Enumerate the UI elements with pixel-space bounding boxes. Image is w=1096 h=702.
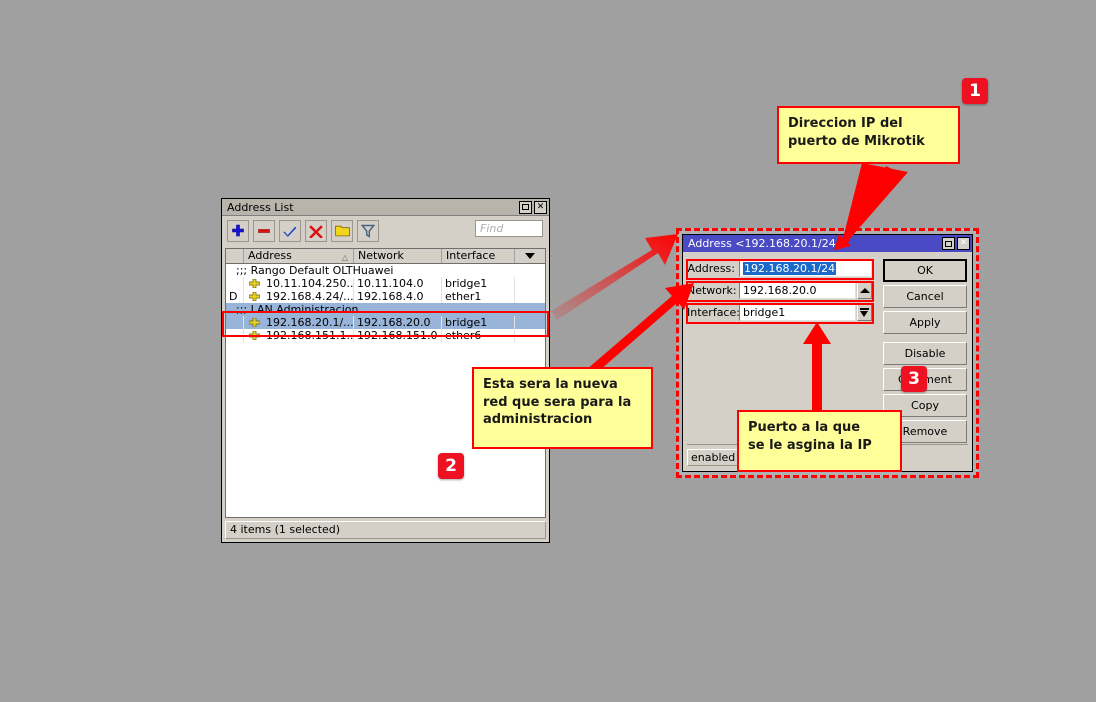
- table-header-row: Address △ Network Interface: [226, 249, 545, 264]
- address-icon: [249, 292, 260, 301]
- callout-nueva-red: Esta sera la nueva red que sera para la …: [472, 367, 653, 449]
- close-icon: ✕: [537, 203, 545, 212]
- row-flag: [226, 316, 244, 329]
- address-list-titlebar[interactable]: Address List ✕: [222, 199, 549, 216]
- table-row[interactable]: ;;; Rango Default OLTHuawei: [226, 264, 545, 277]
- callout-line: administracion: [483, 411, 642, 429]
- address-dialog-titlebar[interactable]: Address <192.168.20.1/24> ✕: [683, 235, 972, 252]
- address-input[interactable]: 192.168.20.1/24: [739, 260, 872, 277]
- ok-button[interactable]: OK: [883, 259, 967, 282]
- square-icon: [522, 204, 529, 210]
- callout-line: Direccion IP del: [788, 115, 949, 133]
- maximize-button[interactable]: [519, 201, 532, 214]
- arrow-list-to-dialog: [551, 234, 678, 320]
- network-collapse-button[interactable]: [857, 282, 872, 299]
- filter-button[interactable]: [357, 220, 379, 242]
- row-interface: ether6: [442, 329, 515, 342]
- row-extra: [515, 329, 540, 342]
- row-interface: ether1: [442, 290, 515, 303]
- address-icon: [249, 318, 260, 327]
- close-icon: ✕: [960, 239, 968, 248]
- row-address: 192.168.20.1/...: [244, 316, 354, 329]
- row-address: 10.11.104.250...: [244, 277, 354, 290]
- comment-button[interactable]: [331, 220, 353, 242]
- row-extra: [515, 316, 540, 329]
- column-header-network[interactable]: Network: [354, 249, 442, 263]
- callout-direccion-ip: Direccion IP del puerto de Mikrotik: [777, 106, 960, 164]
- row-network: 192.168.4.0: [354, 290, 442, 303]
- callout-line: red que sera para la: [483, 394, 642, 412]
- network-input[interactable]: 192.168.20.0: [739, 282, 856, 299]
- apply-button[interactable]: Apply: [883, 311, 967, 334]
- status-bar: 4 items (1 selected): [225, 521, 546, 539]
- row-extra: [515, 290, 540, 303]
- folder-icon: [335, 224, 350, 237]
- table-row[interactable]: D 192.168.4.24/... 192.168.4.0 ether1: [226, 290, 545, 303]
- funnel-icon: [361, 224, 375, 238]
- row-flag: D: [226, 290, 244, 303]
- row-address: 192.168.4.24/...: [244, 290, 354, 303]
- column-header-address[interactable]: Address △: [244, 249, 354, 263]
- disable-button[interactable]: Disable: [883, 342, 967, 365]
- row-extra: [515, 277, 540, 290]
- address-icon: [249, 279, 260, 288]
- table-row[interactable]: ;;; LAN Administracion.: [226, 303, 545, 316]
- row-comment-text: ;;; Rango Default OLTHuawei: [226, 264, 545, 277]
- step-badge-3: 3: [901, 366, 927, 392]
- row-comment-text: ;;; LAN Administracion.: [226, 303, 545, 316]
- row-flag: [226, 277, 244, 290]
- find-input[interactable]: Find: [475, 220, 543, 237]
- address-field-label: Address:: [687, 262, 739, 275]
- enable-button[interactable]: [279, 220, 301, 242]
- address-field-row: Address: 192.168.20.1/24: [687, 260, 872, 277]
- close-button[interactable]: ✕: [534, 201, 547, 214]
- step-badge-1: 1: [962, 78, 988, 104]
- interface-field-label: Interface:: [687, 306, 739, 319]
- column-header-flag[interactable]: [226, 249, 244, 263]
- sort-ascending-icon: △: [342, 251, 348, 263]
- address-list-toolbar[interactable]: Find: [222, 216, 549, 245]
- row-interface: bridge1: [442, 316, 515, 329]
- square-icon: [945, 241, 952, 247]
- dropdown-arrow-icon: [860, 308, 869, 318]
- maximize-button[interactable]: [942, 237, 955, 250]
- callout-puerto: Puerto a la que se le asgina la IP: [737, 410, 902, 472]
- close-button[interactable]: ✕: [957, 237, 970, 250]
- disable-button[interactable]: [305, 220, 327, 242]
- row-network: 10.11.104.0: [354, 277, 442, 290]
- row-interface: bridge1: [442, 277, 515, 290]
- triangle-up-icon: [860, 288, 870, 293]
- interface-input[interactable]: bridge1: [739, 304, 856, 321]
- row-network: 192.168.151.0: [354, 329, 442, 342]
- row-network: 192.168.20.0: [354, 316, 442, 329]
- column-chooser-button[interactable]: [515, 249, 540, 263]
- dialog-title: Address <192.168.20.1/24>: [688, 237, 940, 250]
- callout-line: puerto de Mikrotik: [788, 133, 949, 151]
- remove-button[interactable]: [253, 220, 275, 242]
- minus-icon: [257, 224, 271, 238]
- check-icon: [283, 224, 297, 238]
- network-field-row: Network: 192.168.20.0: [687, 282, 872, 299]
- step-badge-2: 2: [438, 453, 464, 479]
- add-button[interactable]: [227, 220, 249, 242]
- column-header-interface[interactable]: Interface: [442, 249, 515, 263]
- interface-dropdown-button[interactable]: [857, 304, 872, 321]
- row-address: 192.168.151.1...: [244, 329, 354, 342]
- table-row[interactable]: 192.168.20.1/... 192.168.20.0 bridge1: [226, 316, 545, 329]
- cross-icon: [309, 224, 323, 238]
- cancel-button[interactable]: Cancel: [883, 285, 967, 308]
- interface-field-row: Interface: bridge1: [687, 304, 872, 321]
- address-icon: [249, 331, 260, 340]
- callout-line: Puerto a la que: [748, 419, 891, 437]
- plus-icon: [231, 224, 245, 238]
- row-flag: [226, 329, 244, 342]
- table-row[interactable]: 10.11.104.250... 10.11.104.0 bridge1: [226, 277, 545, 290]
- window-title: Address List: [227, 201, 517, 214]
- callout-line: se le asgina la IP: [748, 437, 891, 455]
- table-row[interactable]: 192.168.151.1... 192.168.151.0 ether6: [226, 329, 545, 342]
- network-field-label: Network:: [687, 284, 739, 297]
- chevron-down-icon: [525, 253, 535, 259]
- callout-line: Esta sera la nueva: [483, 376, 642, 394]
